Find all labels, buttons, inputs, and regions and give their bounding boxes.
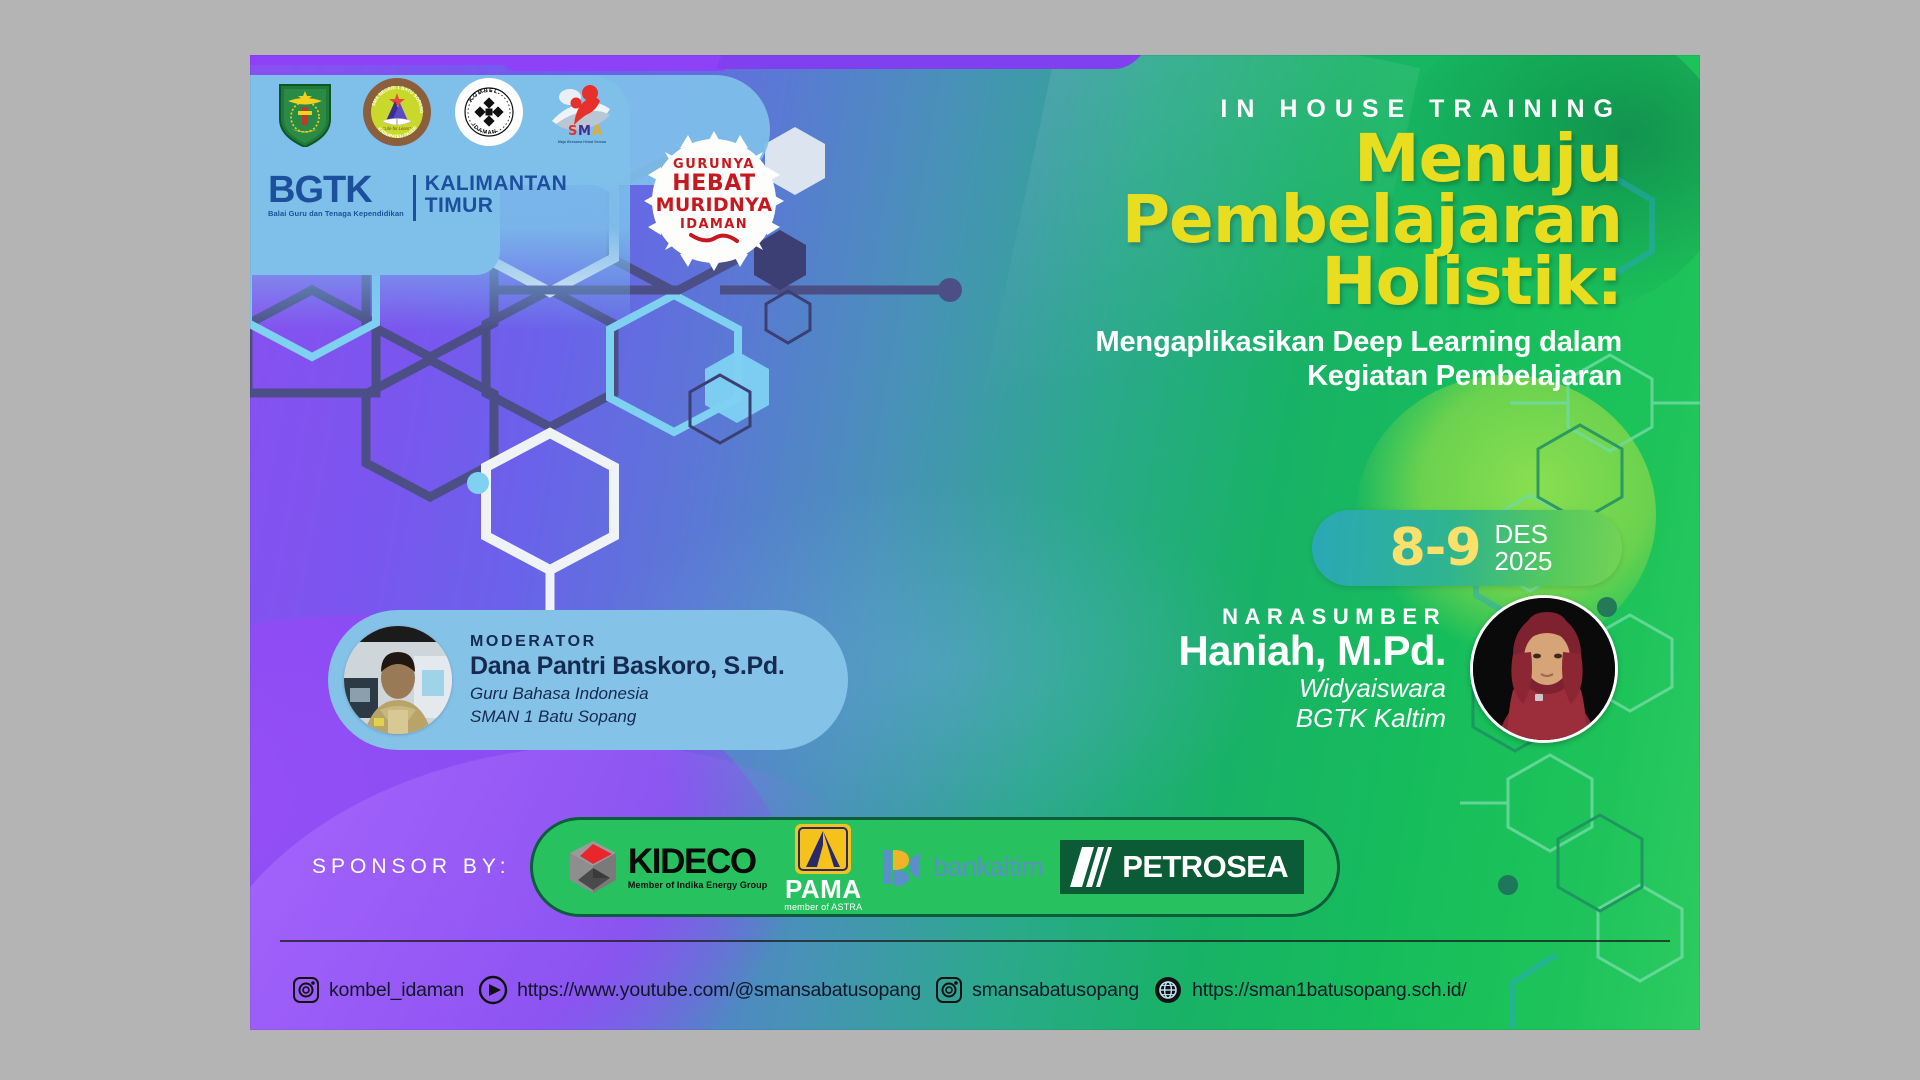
instagram-icon [292,976,320,1004]
speaker-card: NARASUMBER Haniah, M.Pd. Widyaiswara BGT… [1178,595,1618,743]
svg-text:A: A [592,124,602,139]
main-title-line1: Menuju [892,128,1622,189]
rosette-underline-swoosh [688,231,740,245]
moderator-card: MODERATOR Dana Pantri Baskoro, S.Pd. Gur… [328,610,848,750]
speaker-text: NARASUMBER Haniah, M.Pd. Widyaiswara BGT… [1178,604,1446,734]
kideco-name: KIDECO [628,844,767,879]
rosette-line-3: MURIDNYA [656,196,773,215]
footer-item-instagram-smansa[interactable]: smansabatusopang [935,976,1139,1004]
main-title-line2: Pembelajaran [892,189,1622,250]
speaker-role: NARASUMBER [1178,604,1446,630]
sponsor-label: SPONSOR BY: [312,855,522,879]
footer-item-instagram-kombel[interactable]: kombel_idaman [292,976,464,1004]
svg-text:"Life for Learn": "Life for Learn" [383,126,411,131]
rosette-line-4: IDAMAN [680,218,748,231]
bgtk-divider [413,175,416,221]
sponsor-bar: KIDECO Member of Indika Energy Group PAM… [530,817,1340,917]
footer-divider [280,940,1670,942]
svg-text:Maju Bersama Hebat Semua: Maju Bersama Hebat Semua [558,140,607,144]
kideco-tagline: Member of Indika Energy Group [628,880,767,890]
top-accent-strip-3 [715,55,1144,69]
bgtk-expansion: Balai Guru dan Tenaga Kependidikan [268,209,404,218]
subtitle: Mengaplikasikan Deep Learning dalam Kegi… [892,326,1622,393]
pama-name: PAMA [784,876,862,902]
kideco-mark-icon [566,838,620,896]
globe-icon [1153,975,1183,1005]
sponsor-kideco: KIDECO Member of Indika Energy Group [566,838,767,896]
kabupaten-paser-emblem [270,77,340,147]
top-accent-strip-2 [494,55,736,71]
footer-item-website[interactable]: https://sman1batusopang.sch.id/ [1153,975,1467,1005]
sponsor-petrosea: PETROSEA [1060,840,1304,894]
rosette-line-1: GURUNYA [673,158,755,171]
subtitle-line2: Kegiatan Pembelajaran [892,360,1622,394]
sponsor-row: SPONSOR BY: KIDECO Member of Indika Ene [250,817,1700,917]
footer-text-instagram-smansa: smansabatusopang [972,979,1139,1002]
footer-text-youtube: https://www.youtube.com/@smansabatusopan… [517,979,921,1002]
screenshot-canvas: "Life for Learn" SMA NEGERI 1 BATU SOPAN… [0,0,1920,1080]
footer-contacts: kombel_idaman https://www.youtube.com/@s… [280,955,1680,1025]
svg-text:M: M [578,124,591,139]
subtitle-line1: Mengaplikasikan Deep Learning dalam [892,326,1622,360]
bankaltim-mark-icon [879,844,925,890]
petrosea-slashes-icon [1070,847,1112,887]
date-year: 2025 [1495,548,1553,575]
speaker-photo [1470,595,1618,743]
footer-text-website: https://sman1batusopang.sch.id/ [1192,979,1467,1002]
moderator-photo [344,626,452,734]
event-poster: "Life for Learn" SMA NEGERI 1 BATU SOPAN… [250,55,1700,1030]
footer-text-instagram-kombel: kombel_idaman [329,979,464,1002]
rosette-text: GURUNYA HEBAT MURIDNYA IDAMAN [640,127,788,275]
speaker-detail-1: Widyaiswara [1178,673,1446,704]
sma-maju-bersama-hebat-semua-logo: S M A Maju Bersama Hebat Semua [546,77,616,147]
bankaltim-name: bankaltim [933,852,1043,883]
moderator-detail-1: Guru Bahasa Indonesia [470,684,785,704]
moderator-name: Dana Pantri Baskoro, S.Pd. [470,652,785,681]
sponsor-pama: PAMA member of ASTRA [784,823,862,912]
main-title-line3: Holistik: [892,251,1622,312]
kombel-idaman-logo: KOMBEL IDAMAN [454,77,524,147]
svg-text:S: S [568,124,577,139]
moderator-text: MODERATOR Dana Pantri Baskoro, S.Pd. Gur… [470,633,785,728]
bgtk-logo: BGTK Balai Guru dan Tenaga Kependidikan … [268,173,567,221]
date-days: 8-9 [1390,522,1481,574]
date-month: DES [1495,521,1553,548]
title-block: IN HOUSE TRAINING Menuju Pembelajaran Ho… [892,95,1622,393]
tagline-rosette-badge: GURUNYA HEBAT MURIDNYA IDAMAN [640,127,788,275]
sponsor-bankaltim: bankaltim [879,844,1043,890]
main-title: Menuju Pembelajaran Holistik: [892,128,1622,312]
petrosea-name: PETROSEA [1122,849,1288,885]
speaker-detail-2: BGTK Kaltim [1178,703,1446,734]
partner-logos: "Life for Learn" SMA NEGERI 1 BATU SOPAN… [270,77,616,147]
bgtk-province-line1: KALIMANTAN [425,173,567,195]
bgtk-province-line2: TIMUR [425,195,567,217]
pama-mark-icon [794,823,852,875]
date-badge: 8-9 DES 2025 [1312,510,1622,586]
moderator-role: MODERATOR [470,633,785,651]
instagram-icon [935,976,963,1004]
youtube-icon [478,975,508,1005]
footer-item-youtube[interactable]: https://www.youtube.com/@smansabatusopan… [478,975,921,1005]
moderator-detail-2: SMAN 1 Batu Sopang [470,707,785,727]
rosette-line-2: HEBAT [672,173,756,195]
speaker-name: Haniah, M.Pd. [1178,630,1446,673]
bgtk-acronym: BGTK [268,173,404,207]
sma-negeri-1-batu-sopang-logo: "Life for Learn" SMA NEGERI 1 BATU SOPAN… [362,77,432,147]
pama-tagline: member of ASTRA [784,902,862,912]
